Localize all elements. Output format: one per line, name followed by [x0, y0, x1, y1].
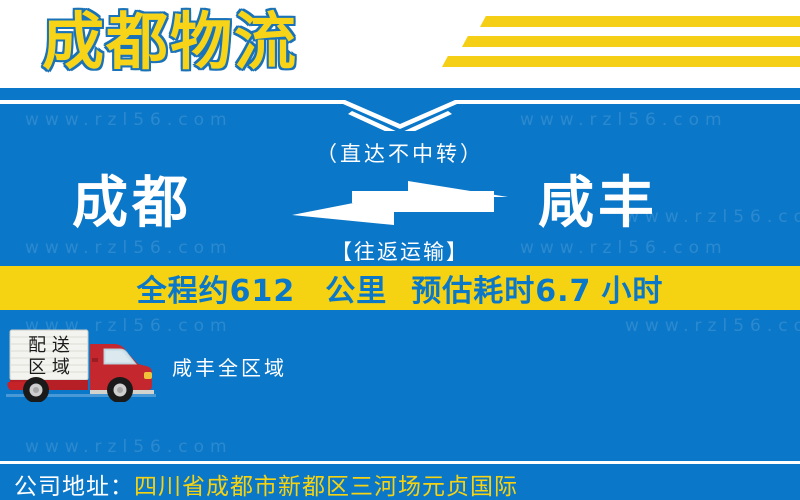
- duration-prefix: 预估耗时: [411, 266, 535, 310]
- double-arrow-icon: [290, 179, 510, 231]
- roundtrip-note: 【往返运输】: [0, 236, 800, 266]
- poster-body: www.rzl56.com www.rzl56.com www.rzl56.co…: [0, 88, 800, 500]
- address-label: 公司地址：: [14, 474, 134, 500]
- watermark: www.rzl56.com: [25, 437, 233, 457]
- decorative-stripes: [420, 8, 800, 76]
- watermark: www.rzl56.com: [25, 110, 233, 130]
- svg-text:配 送: 配 送: [28, 335, 70, 356]
- duration-value: 6.7: [535, 274, 591, 309]
- delivery-area-label: 咸丰全区域: [172, 352, 287, 381]
- delivery-truck-icon: 配 送 区 域: [6, 328, 156, 402]
- distance-prefix: 全程约: [137, 266, 230, 310]
- destination-city: 咸丰: [538, 176, 658, 232]
- origin-city: 成都: [72, 176, 192, 232]
- direct-shipping-note: （直达不中转）: [0, 138, 800, 168]
- distance-value: 612: [230, 274, 296, 309]
- duration-unit: 小时: [601, 266, 663, 310]
- stripe-1: [480, 16, 800, 27]
- company-address: 公司地址：四川省成都市新都区三河场元贞国际: [14, 472, 518, 500]
- logistics-poster: 成都物流 www.rzl56.com www.rzl56.com www.rzl…: [0, 0, 800, 500]
- brand-title: 成都物流: [42, 0, 298, 86]
- svg-text:区 域: 区 域: [28, 357, 70, 378]
- stripe-3: [442, 56, 800, 67]
- watermark: www.rzl56.com: [625, 316, 800, 336]
- address-value: 四川省成都市新都区三河场元贞国际: [134, 474, 518, 500]
- distance-unit: 公里: [325, 266, 387, 310]
- poster-header: 成都物流: [0, 0, 800, 88]
- watermark: www.rzl56.com: [520, 110, 728, 130]
- distance-band: 全程约 612 公里 预估耗时 6.7 小时: [0, 266, 800, 310]
- footer-divider: [0, 461, 800, 464]
- stripe-2: [462, 36, 800, 47]
